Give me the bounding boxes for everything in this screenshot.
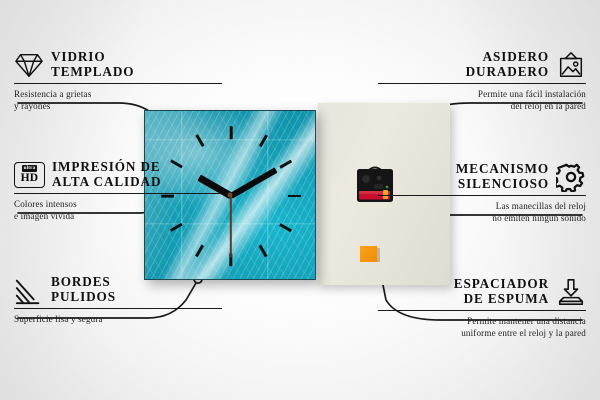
feature-title-line2: TEMPLADO bbox=[51, 65, 134, 80]
desc-line-2: no emiten ningún sonido bbox=[378, 212, 586, 224]
clock-tick bbox=[195, 245, 204, 258]
feature-title-line1: BORDES bbox=[51, 275, 116, 290]
desc-line-1: Permite una fácil instalación bbox=[378, 88, 586, 100]
clock-tick bbox=[170, 223, 183, 232]
diamond-icon bbox=[14, 50, 44, 80]
feature-mecanismo-silencioso: MECANISMO SILENCIOSO Las manecillas del … bbox=[378, 162, 586, 224]
desc-line-1: Resistencia a grietas bbox=[14, 88, 222, 100]
feature-title-line2: DE ESPUMA bbox=[454, 292, 549, 307]
desc-line-2: y rayones bbox=[14, 100, 222, 112]
desc-line-1: Superficie lisa y segura bbox=[14, 313, 222, 325]
feature-description: Permite una fácil instalación del reloj … bbox=[378, 88, 586, 112]
feature-title-line2: SILENCIOSO bbox=[456, 177, 549, 192]
feature-rule bbox=[14, 83, 222, 84]
feature-description: Superficie lisa y segura bbox=[14, 313, 222, 325]
foam-spacer-pad bbox=[360, 246, 377, 262]
desc-line-2: del reloj en la pared bbox=[378, 100, 586, 112]
desc-line-1: Colores intensos bbox=[14, 198, 222, 210]
foam-spacer-arrow-icon bbox=[556, 277, 586, 307]
desc-line-1: Permite mantener una distancia bbox=[378, 315, 586, 327]
desc-line-2: e imagen vívida bbox=[14, 210, 222, 222]
feature-title-line1: VIDRIO bbox=[51, 50, 134, 65]
feature-bordes-pulidos: BORDES PULIDOS Superficie lisa y segura bbox=[14, 275, 222, 325]
feature-description: Resistencia a grietas y rayones bbox=[14, 88, 222, 112]
feature-title-line1: MECANISMO bbox=[456, 162, 549, 177]
feature-title-line1: ASIDERO bbox=[466, 50, 549, 65]
feature-title-line2: DURADERO bbox=[466, 65, 549, 80]
polished-edges-icon bbox=[14, 275, 44, 305]
clock-second-hand bbox=[230, 196, 232, 258]
clock-tick bbox=[258, 245, 267, 258]
ultra-hd-icon: ultra HD bbox=[14, 162, 45, 188]
feature-rule bbox=[378, 310, 586, 311]
clock-tick bbox=[280, 223, 293, 232]
desc-line-1: Las manecillas del reloj bbox=[378, 200, 586, 212]
feature-title-line1: ESPACIADOR bbox=[454, 277, 549, 292]
clock-minute-hand bbox=[230, 167, 278, 198]
gear-icon bbox=[556, 162, 586, 192]
feature-description: Colores intensos e imagen vívida bbox=[14, 198, 222, 222]
desc-line-2: uniforme entre el reloj y la pared bbox=[378, 327, 586, 339]
feature-rule bbox=[14, 308, 222, 309]
feature-title-line2: ALTA CALIDAD bbox=[52, 175, 161, 190]
feature-impresion-alta-calidad: ultra HD IMPRESIÓN DE ALTA CALIDAD Color… bbox=[14, 160, 222, 222]
feature-rule bbox=[14, 193, 222, 194]
feature-vidrio-templado: VIDRIO TEMPLADO Resistencia a grietas y … bbox=[14, 50, 222, 112]
feature-description: Permite mantener una distancia uniforme … bbox=[378, 315, 586, 339]
clock-tick bbox=[195, 135, 204, 148]
ultra-hd-small-label: ultra bbox=[22, 165, 38, 171]
feature-rule bbox=[378, 83, 586, 84]
feature-title-line1: IMPRESIÓN DE bbox=[52, 160, 161, 175]
feature-rule bbox=[378, 195, 586, 196]
clock-tick bbox=[280, 160, 293, 169]
product-infographic: VIDRIO TEMPLADO Resistencia a grietas y … bbox=[0, 0, 600, 400]
feature-espaciador-de-espuma: ESPACIADOR DE ESPUMA Permite mantener un… bbox=[378, 277, 586, 339]
ultra-hd-large-label: HD bbox=[21, 173, 39, 185]
clock-tick bbox=[288, 195, 301, 198]
feature-asidero-duradero: ASIDERO DURADERO Permite una fácil insta… bbox=[378, 50, 586, 112]
picture-frame-icon bbox=[556, 50, 586, 80]
clock-pivot bbox=[228, 193, 233, 198]
feature-description: Las manecillas del reloj no emiten ningú… bbox=[378, 200, 586, 224]
feature-title-line2: PULIDOS bbox=[51, 290, 116, 305]
clock-tick bbox=[230, 126, 233, 139]
clock-tick bbox=[258, 135, 267, 148]
